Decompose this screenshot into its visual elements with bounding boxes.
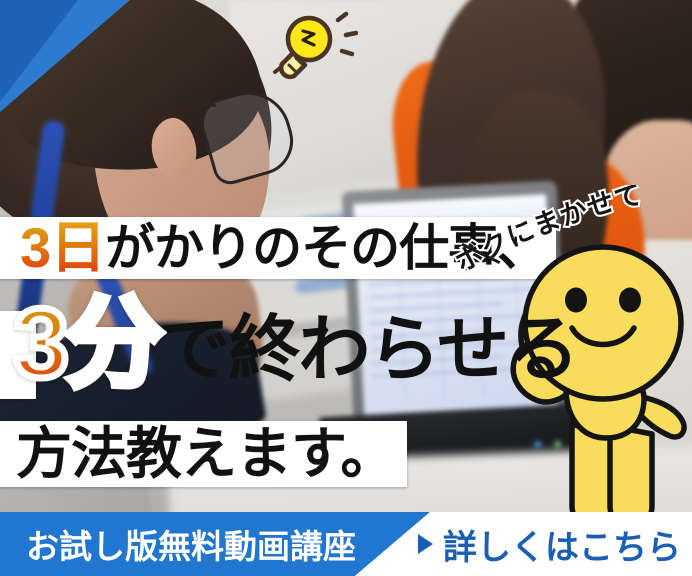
headline-1-accent: 3日	[20, 220, 105, 276]
svg-text:ボクにまかせて: ボクにまかせて	[452, 185, 646, 277]
details-cta-label: 詳しくはこちら	[443, 520, 681, 569]
mascot-speech-text: ボクにまかせて	[452, 185, 646, 277]
headline-2-accent: 3分	[14, 296, 161, 390]
headline-band-3: 方法教えます。	[0, 421, 407, 487]
bottom-cta-bar[interactable]: お試し版無料動画講座 詳しくはこちら	[0, 512, 692, 576]
mascot-speech-bubble-text: ボクにまかせて	[452, 185, 692, 280]
headline-3-text: 方法教えます。	[16, 426, 395, 482]
ad-banner: ボクにまかせて 3日 がかりのその仕事、 3分 で終わらせる 方法教えます。 お…	[0, 0, 692, 576]
light-bulb-icon	[262, 8, 358, 84]
details-cta-link[interactable]: 詳しくはこちら	[418, 512, 681, 576]
free-trial-tag-label: お試し版無料動画講座	[26, 512, 356, 576]
headline-line-2: 3分 で終わらせる	[14, 296, 577, 390]
headline-2-rest: で終わらせる	[159, 314, 578, 386]
play-triangle-icon	[418, 534, 433, 554]
mascot-eye-right	[619, 288, 641, 313]
